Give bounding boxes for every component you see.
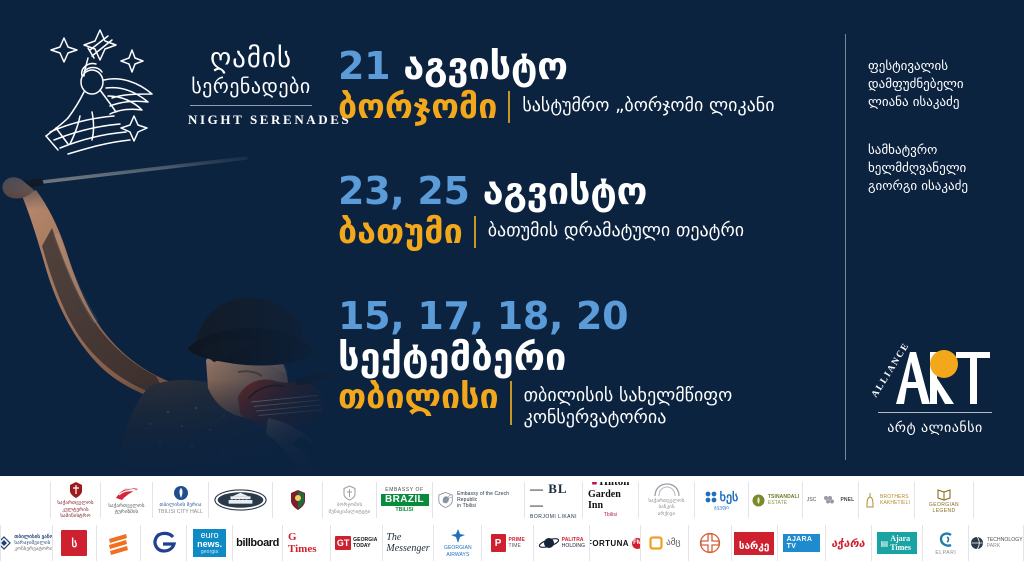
- grape-icon: [821, 494, 837, 506]
- credit-founder: ფესტივალის დამფუძნებელი ლიანა ისაკაძე: [868, 58, 1018, 112]
- crest-icon: [290, 489, 306, 511]
- diamond-icon: [0, 536, 11, 550]
- bl-wordmark: — BL —: [530, 482, 577, 513]
- poster-root: ღამის სერენადები NIGHT SERENADES 21 აგვი…: [0, 0, 1024, 576]
- event-city: ბორჯომი: [338, 87, 497, 127]
- sponsor-label: news.: [197, 540, 222, 549]
- olive-wreath-icon: [752, 494, 765, 507]
- sponsor-label: AJARA TV: [787, 536, 816, 550]
- event-venue: ბათუმის დრამატული თეატრი: [488, 212, 744, 242]
- sponsor-euronews: euro news. georgia: [186, 525, 232, 561]
- star-icon: [449, 528, 467, 544]
- sponsor-label: საქართველოს: [57, 500, 93, 506]
- event-separator: [510, 381, 512, 425]
- sponsor-borjomi-likani: — BL — BORJOMI LIKANI: [524, 482, 582, 518]
- sponsor-georgia-today: GT GEORGIA TODAY: [330, 525, 382, 561]
- sponsor-label: GEORGIAN: [444, 545, 472, 551]
- sponsor-label: FORTUNA: [589, 539, 629, 548]
- sponsor-label: Garden Inn: [588, 489, 633, 511]
- event-days: 23, 25: [338, 169, 470, 213]
- sponsor-georgian-airways: GEORGIAN AIRWAYS: [433, 525, 481, 561]
- sponsor-ajara-government: [272, 482, 322, 518]
- sponsor-label: თბილისის მერია: [160, 502, 202, 508]
- sponsor-label: ESTATE: [768, 500, 799, 506]
- sponsor-tbilisi-state-conservatoire: თბილისის ვანო სარაჯიშვილის კონსერვატორია: [0, 525, 52, 561]
- sponsor-georgian-national-tourism: საქართველოს ტურიზმის: [100, 482, 152, 518]
- sponsor-label: AIRWAYS: [446, 552, 469, 558]
- event-separator: [508, 91, 510, 123]
- sponsor-borjomi-municipality: ბორჯომის მუნიციპალიტეტი: [322, 482, 376, 518]
- fortuna-dot-icon: FM: [632, 538, 640, 549]
- czech-lion-icon: [438, 490, 453, 510]
- sponsor-label: აჭარა: [831, 537, 865, 550]
- crest-icon: [69, 482, 83, 499]
- event-month: აგვისტო: [483, 169, 648, 213]
- sponsor-label: მუნიციპალიტეტი: [329, 509, 371, 515]
- cross-icon: [699, 532, 721, 554]
- sponsor-tbilisi-city-hall: თბილისის მერია TBILISI CITY HALL: [152, 482, 208, 518]
- oval-emblem-icon: [214, 488, 267, 512]
- event-date-line: 23, 25 აგვისტო: [338, 169, 838, 213]
- sponsor-label: Ajara Times: [890, 534, 913, 552]
- sponsor-label: ჯგუფი: [714, 505, 729, 511]
- event-month: აგვისტო: [403, 44, 568, 88]
- event-venue: თბილისის სახელმწიფო კონსერვატორია: [524, 377, 814, 429]
- swoosh-icon: [114, 486, 140, 502]
- sponsor-row-2: თბილისის ვანო სარაჯიშვილის კონსერვატორია…: [0, 520, 1024, 566]
- event-date-line: 21 აგვისტო: [338, 44, 838, 88]
- event-city: ბათუმი: [338, 212, 463, 252]
- sponsor-sarke: სარკე: [731, 525, 777, 561]
- sponsor-label: BORJOMI LIKANI: [530, 514, 577, 519]
- sponsor-prime-time: P PRIME TIME: [481, 525, 533, 561]
- sponsor-georgian-times: G Times: [282, 525, 330, 561]
- sponsor-tbilisi-technology: TECHNOLOGY PARK: [968, 525, 1024, 561]
- sponsor-ministry-of-culture-georgia: საქართველოს კულტურის სამინისტრო: [50, 482, 100, 518]
- paper-icon: ▤: [881, 539, 889, 548]
- stripes-icon: [106, 531, 130, 555]
- crest-icon: [343, 485, 356, 501]
- bottle-icon: [863, 492, 877, 508]
- event-days: 15, 17, 18, 20: [338, 294, 838, 338]
- sponsor-ajara-tv: AJARA TV: [777, 525, 825, 561]
- sponsor-label: ს: [61, 530, 87, 556]
- sponsor-the-messenger: The Messenger: [382, 525, 434, 561]
- sponsor-palitra-holding: PALITRA HOLDING: [533, 525, 589, 561]
- credit-art-director: სამხატვრო ხელმძღვანელი გიორგი ისაკაძე: [868, 142, 1018, 196]
- brazil-wordmark: BRAZIL: [381, 494, 429, 506]
- sponsor-label: საქართველოს ბანკის: [644, 498, 689, 510]
- logo-divider: [190, 105, 312, 106]
- sponsor-red-square-sponsor: ს: [52, 525, 96, 561]
- sponsor-jsc-pnel: JSC PNEL: [802, 482, 858, 518]
- arch-icon: [653, 483, 681, 497]
- vertical-divider: [845, 34, 846, 460]
- sponsor-label: GEORGIAN LEGEND: [920, 502, 968, 514]
- square-outline-icon: [649, 536, 663, 550]
- sponsor-label: საქართველოს ტურიზმის: [106, 503, 147, 515]
- event-item: 15, 17, 18, 20 სექტემბერი თბილისი თბილის…: [338, 294, 838, 429]
- sponsor-label: JSC: [807, 497, 817, 503]
- sponsor-label: TBILISI: [396, 507, 414, 513]
- sponsor-elpari: ELPARI: [922, 525, 968, 561]
- sponsor-label: georgia: [201, 549, 218, 555]
- sponsor-ajara-times: ▤ Ajara Times: [871, 525, 923, 561]
- sponsor-embassy-czech-republic-tbilisi: Embassy of the Czech Republic in Tbilisi: [432, 482, 524, 518]
- event-month: სექტემბერი: [338, 336, 838, 378]
- art-alliance-divider: [878, 412, 992, 413]
- event-days: 21: [338, 44, 390, 88]
- event-item: 23, 25 აგვისტო ბათუმი ბათუმის დრამატული …: [338, 169, 838, 252]
- sponsor-band: საქართველოს კულტურის სამინისტრო საქართვე…: [0, 476, 1024, 576]
- sponsor-label: არქივი: [658, 511, 675, 517]
- sponsor-label: KAKHETIELI: [880, 500, 910, 506]
- angel-icon: [28, 24, 178, 160]
- emark-icon: [151, 530, 177, 556]
- violinist-photo: [0, 150, 360, 480]
- sponsor-fortuna-radio: FORTUNA FM: [589, 525, 641, 561]
- sponsor-label: კონსერვატორია: [14, 546, 51, 552]
- sponsor-label: ამც: [666, 538, 680, 548]
- sponsor-rainbow-arch-sponsor: საქართველოს ბანკის არქივი: [638, 482, 694, 518]
- credits-panel: ფესტივალის დამფუძნებელი ლიანა ისაკაძე სა…: [868, 58, 1018, 226]
- sponsor-row-1: საქართველოს კულტურის სამინისტრო საქართვე…: [0, 476, 1024, 520]
- event-venue: სასტუმრო „ბორჯომი ლიკანი: [522, 87, 774, 117]
- sponsor-label: PARK: [987, 543, 1023, 549]
- sponsor-parliament-of-georgia: [208, 482, 272, 518]
- sponsor-tsinandali-estate: TSINANDALI ESTATE: [748, 482, 802, 518]
- sponsor-label: ბორჯომის: [337, 502, 362, 508]
- sponsor-label: EMBASSY OF: [385, 487, 423, 493]
- sponsor-label: ხეს: [720, 490, 739, 504]
- sponsor-embassy-of-brazil-tbilisi: EMBASSY OF BRAZIL TBILISI: [376, 482, 432, 518]
- festival-name-en: NIGHT SERENADES: [188, 112, 314, 128]
- sponsor-label: HOLDING: [562, 543, 585, 549]
- event-city: თბილისი: [338, 377, 499, 417]
- sponsor-label: Hilton: [599, 482, 629, 488]
- sponsor-label: PNEL: [841, 497, 855, 503]
- art-alliance-logo: ALLIANCE არტ ალიანსი: [872, 338, 998, 442]
- sponsor-label: GT: [335, 536, 351, 550]
- sponsor-acharis-xma: აჭარა: [825, 525, 871, 561]
- planet-icon: [538, 536, 560, 550]
- sponsor-hbs-x3s: ხეს ჯგუფი: [694, 482, 748, 518]
- sponsor-label: კულტურის სამინისტრო: [56, 507, 95, 518]
- sponsor-hilton-garden-inn: ◼ Hilton Garden Inn Tbilisi Chavchavadze: [582, 482, 638, 518]
- hilton-h-icon: ◼: [592, 482, 598, 486]
- globe-icon: [970, 536, 984, 550]
- event-item: 21 აგვისტო ბორჯომი სასტუმრო „ბორჯომი ლიკ…: [338, 44, 838, 127]
- sponsor-label: in Tbilisi: [457, 503, 519, 509]
- cluster-icon: [705, 491, 717, 503]
- book-icon: [936, 487, 952, 501]
- sponsor-cross-sponsor: [688, 525, 730, 561]
- sponsor-e-mark-sponsor: [140, 525, 186, 561]
- sponsor-label: სარკე: [739, 541, 770, 552]
- prime-time-icon: P: [491, 534, 506, 552]
- art-alliance-mark: ALLIANCE: [872, 338, 998, 408]
- sponsor-label: ELPARI: [935, 550, 956, 556]
- festival-name-geo-line1: ღამის: [188, 44, 314, 74]
- seal-icon: [173, 485, 189, 501]
- sponsor-billboard: billboard: [232, 525, 282, 561]
- sponsor-label: TIME: [509, 543, 525, 549]
- c-swirl-icon: [938, 531, 954, 549]
- sponsor-label: Embassy of the Czech Republic: [457, 491, 519, 503]
- sponsor-label: G Times: [288, 531, 325, 555]
- sponsor-amc-radio: ამც: [640, 525, 688, 561]
- sponsor-label: The Messenger: [386, 532, 429, 554]
- sponsor-label: TODAY: [353, 543, 377, 549]
- sponsor-label: Tbilisi Chavchavadze: [588, 512, 633, 518]
- sponsor-label: TBILISI CITY HALL: [158, 509, 203, 515]
- night-serenades-logo: ღამის სერენადები NIGHT SERENADES: [28, 20, 310, 160]
- sponsor-label: billboard: [236, 537, 279, 549]
- festival-name-geo-line2: სერენადები: [188, 74, 314, 98]
- sponsor-orange-stripes-sponsor: [96, 525, 140, 561]
- sponsor-georgian-legend: GEORGIAN LEGEND: [914, 482, 974, 518]
- art-alliance-name-geo: არტ ალიანსი: [872, 420, 998, 436]
- event-separator: [474, 216, 476, 248]
- event-list: 21 აგვისტო ბორჯომი სასტუმრო „ბორჯომი ლიკ…: [338, 44, 838, 429]
- sponsor-brothers-kakhetieli: BROTHERS KAKHETIELI: [858, 482, 914, 518]
